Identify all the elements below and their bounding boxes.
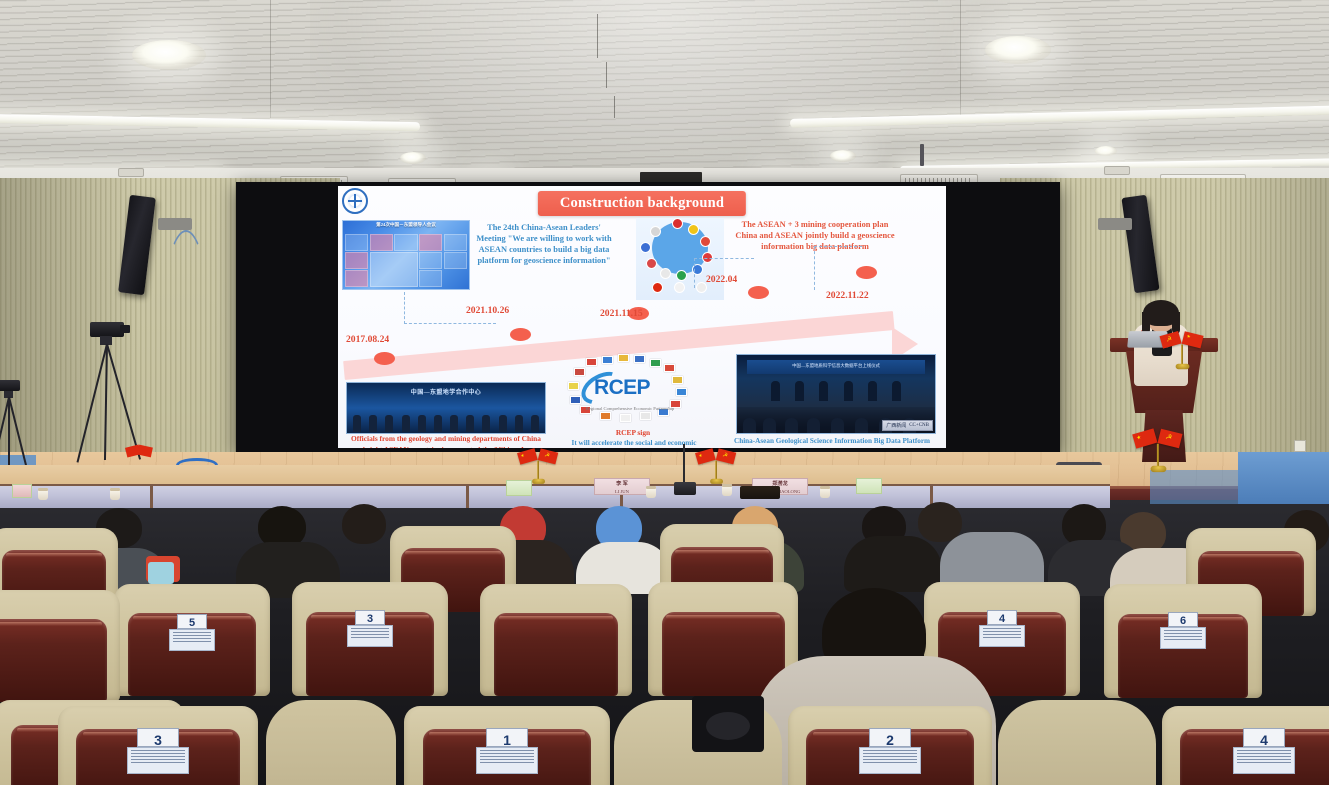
notebook: [740, 486, 780, 499]
ceiling: [0, 0, 1329, 192]
seat-6[interactable]: 6: [1104, 584, 1262, 698]
inaugural-photo-caption: 中国—东盟地学合作中心: [347, 387, 545, 396]
video-tile: [345, 252, 368, 269]
party-emblem: ☭: [722, 452, 729, 459]
launch-officials-row: [763, 379, 909, 401]
table-panel-divider: [466, 484, 469, 508]
china-flag-icon: ★: [517, 448, 538, 465]
timeline-date: 2017.08.24: [346, 334, 389, 345]
flag-base: [1151, 466, 1167, 472]
flag-base: [532, 479, 545, 484]
seat-info-card: [1233, 747, 1295, 774]
seat-4-front[interactable]: 4: [1162, 706, 1329, 785]
video-camera-icon: [0, 380, 42, 472]
camera-body: [0, 380, 20, 391]
seat-info-card: [347, 625, 393, 647]
party-emblem-flag-icon: ☭: [1160, 331, 1182, 349]
party-emblem-flag-icon: ☭: [538, 448, 558, 464]
seat[interactable]: [480, 584, 632, 696]
china-flag-icon: [652, 282, 663, 293]
paper-cup: [722, 484, 732, 496]
country-flag-icon: [672, 218, 683, 229]
nameplate-name-cn: 李 军: [595, 481, 649, 489]
country-flag-icon: [646, 258, 657, 269]
tripod-leg: [8, 397, 10, 469]
paper-cup: [646, 486, 656, 498]
speaker-mount: [1098, 218, 1132, 230]
summit-video-grid: [345, 234, 467, 287]
stage-flag-pair-right: ★ ☭: [1135, 429, 1183, 469]
nameplate-name-en: LI JUN: [615, 489, 629, 494]
watermark-code: CC+CNB: [909, 423, 929, 428]
wall-outlet: [1294, 440, 1306, 452]
tripod-leg: [8, 397, 28, 471]
seat-wood-panel: [662, 612, 785, 696]
platform-launch-photo: 中国—东盟地质科学信息大数据平台上线仪式 广西新闻 CC+CNB: [736, 354, 936, 434]
microphone-icon: [683, 444, 685, 486]
seat-number: 4: [987, 610, 1017, 625]
china-flag-icon: ★: [1182, 331, 1204, 348]
speaker-mount: [158, 218, 192, 230]
flag-star: ★: [1186, 335, 1191, 340]
conference-hall-scene: Construction background 第24次中国－东盟领导人会议 T…: [0, 0, 1329, 785]
timeline-date: 2022.11.22: [826, 290, 869, 301]
seat-3-front[interactable]: 3: [58, 706, 258, 785]
inaugural-officials-row: [353, 412, 539, 432]
table-flag-pair-1: ★ ☭: [519, 449, 559, 482]
watermark-channel: 广西新闻: [886, 422, 906, 429]
video-tile-main: [370, 252, 418, 287]
flag-star: ★: [1136, 435, 1142, 441]
japan-flag-icon: [674, 282, 685, 293]
timeline-connector: [814, 246, 862, 290]
rcep-body-text: It will accelerate the social and econom…: [566, 438, 702, 448]
country-flag-icon: [640, 242, 651, 253]
video-tile: [345, 270, 368, 287]
seat-info-card: [1160, 627, 1206, 649]
video-tile: [394, 234, 417, 251]
ceiling-seam: [270, 0, 271, 118]
tripod-leg: [104, 344, 108, 460]
paper-cup: [820, 486, 830, 498]
table-panel-divider: [150, 484, 153, 508]
video-tile: [419, 252, 442, 269]
flag-base: [710, 479, 723, 484]
seat-side-panel: [266, 700, 396, 785]
nameplate: 李 军 LI JUN: [594, 478, 650, 495]
camera-body: [90, 322, 124, 337]
rcep-sign-label: RCEP sign: [588, 428, 678, 439]
china-flag-icon: ★: [1132, 428, 1157, 448]
tissue-box: [506, 480, 532, 496]
party-emblem: ☭: [1165, 433, 1173, 442]
ceiling-projector-icon: [1104, 166, 1130, 175]
party-emblem: ☭: [1166, 336, 1173, 344]
country-flag-icon: [700, 236, 711, 247]
summit-photo-caption-cn: 第24次中国－东盟领导人会议: [343, 222, 469, 228]
tv-channel-watermark: 广西新闻 CC+CNB: [882, 420, 933, 431]
seat-number: 2: [869, 728, 911, 747]
video-tile: [419, 270, 442, 287]
party-emblem-flag-icon: ☭: [1158, 429, 1183, 449]
ceiling-downlight-icon: [132, 40, 206, 70]
audience-head: [342, 504, 386, 544]
flag-star: ★: [698, 454, 703, 459]
party-emblem: ☭: [544, 452, 551, 459]
floor-cup-holder: [706, 712, 750, 740]
floor-accent-right: [1238, 452, 1329, 504]
seat-number: 6: [1168, 612, 1198, 627]
party-emblem-flag-icon: ☭: [716, 448, 736, 464]
launch-banner-text: 中国—东盟地质科学信息大数据平台上线仪式: [747, 360, 925, 374]
ceiling-downlight-icon: [985, 36, 1051, 64]
rcep-wordmark: RCEP: [594, 376, 650, 400]
timeline-date: 2021.11.15: [600, 308, 643, 319]
camera-lens-icon: [120, 325, 130, 333]
seat-3[interactable]: 3: [292, 582, 448, 696]
seat-wood-panel: [0, 619, 107, 702]
ceiling-seam: [960, 0, 961, 122]
seat-number: 1: [486, 728, 528, 747]
rcep-subtitle: Regional Comprehensive Economic Partners…: [566, 406, 694, 411]
ceiling-projector-icon: [118, 168, 144, 177]
summit-photo: 第24次中国－东盟领导人会议: [342, 220, 470, 290]
country-flag-icon: [660, 268, 671, 279]
seat-2-front[interactable]: 2: [788, 706, 992, 785]
audience-item-cup: [148, 562, 174, 584]
seat-info-card: [859, 747, 921, 774]
video-tile: [444, 234, 467, 251]
flag-base: [1176, 364, 1190, 370]
inaugural-caption: Officials from the geology and mining de…: [346, 434, 546, 448]
ceiling-downlight-icon: [830, 150, 856, 162]
seat-1-front[interactable]: 1: [404, 706, 610, 785]
launch-caption: China-Asean Geological Science Informati…: [734, 436, 938, 448]
presenter-hair: [1143, 300, 1179, 326]
slide-quote-text: The 24th China-Asean Leaders' Meeting "W…: [474, 222, 614, 266]
timeline-connector: [694, 258, 754, 288]
ceiling-pendant: [920, 144, 924, 166]
timeline-dot: [510, 328, 531, 341]
flag-star: ★: [520, 454, 525, 459]
timeline-connector: [404, 292, 496, 324]
video-tile: [419, 234, 442, 251]
seat-5[interactable]: 5: [114, 584, 270, 696]
ceiling-seam: [614, 96, 615, 118]
seat-wood-panel: [494, 613, 619, 696]
country-flag-icon: [676, 270, 687, 281]
timeline-dot: [374, 352, 395, 365]
paper-cup: [110, 488, 120, 500]
seat-info-card: [476, 747, 538, 774]
ceiling-downlight-icon: [1095, 146, 1117, 156]
video-camera-icon: [84, 322, 144, 462]
china-flag-icon: ★: [695, 448, 716, 465]
seat-side-panel: [998, 700, 1156, 785]
seat-number: 3: [137, 728, 179, 747]
institution-emblem-icon: [342, 188, 368, 214]
seat-number: 5: [177, 614, 207, 629]
country-flag-icon: [650, 226, 661, 237]
paper-cup: [38, 488, 48, 500]
ceiling-seam: [606, 62, 607, 88]
country-flag-icon: [688, 224, 699, 235]
video-tile: [345, 234, 368, 251]
seat-info-card: [979, 625, 1025, 647]
table-flag-pair-2: ★ ☭: [697, 449, 737, 482]
ceiling-seam: [597, 14, 598, 58]
video-tile: [370, 234, 393, 251]
ceiling-downlight-icon: [400, 152, 426, 164]
rcep-logo-block: RCEP Regional Comprehensive Economic Par…: [566, 358, 694, 428]
seat-info-card: [127, 747, 189, 774]
seat-number: 3: [355, 610, 385, 625]
inaugural-ceremony-photo: 中国—东盟地学合作中心: [346, 382, 546, 434]
hanging-cable: [160, 230, 212, 450]
video-tile: [444, 252, 467, 269]
seat-number: 4: [1243, 728, 1285, 747]
slide-title: Construction background: [538, 191, 746, 216]
microphone-base: [674, 482, 696, 495]
tissue-box: [12, 484, 32, 498]
seat[interactable]: [0, 590, 120, 702]
seat-info-card: [169, 629, 215, 651]
tissue-box: [856, 478, 882, 494]
projection-screen: Construction background 第24次中国－东盟领导人会议 T…: [338, 186, 946, 448]
china-flag-icon: [137, 445, 153, 458]
podium-flag-pair: ☭ ★: [1162, 332, 1204, 367]
